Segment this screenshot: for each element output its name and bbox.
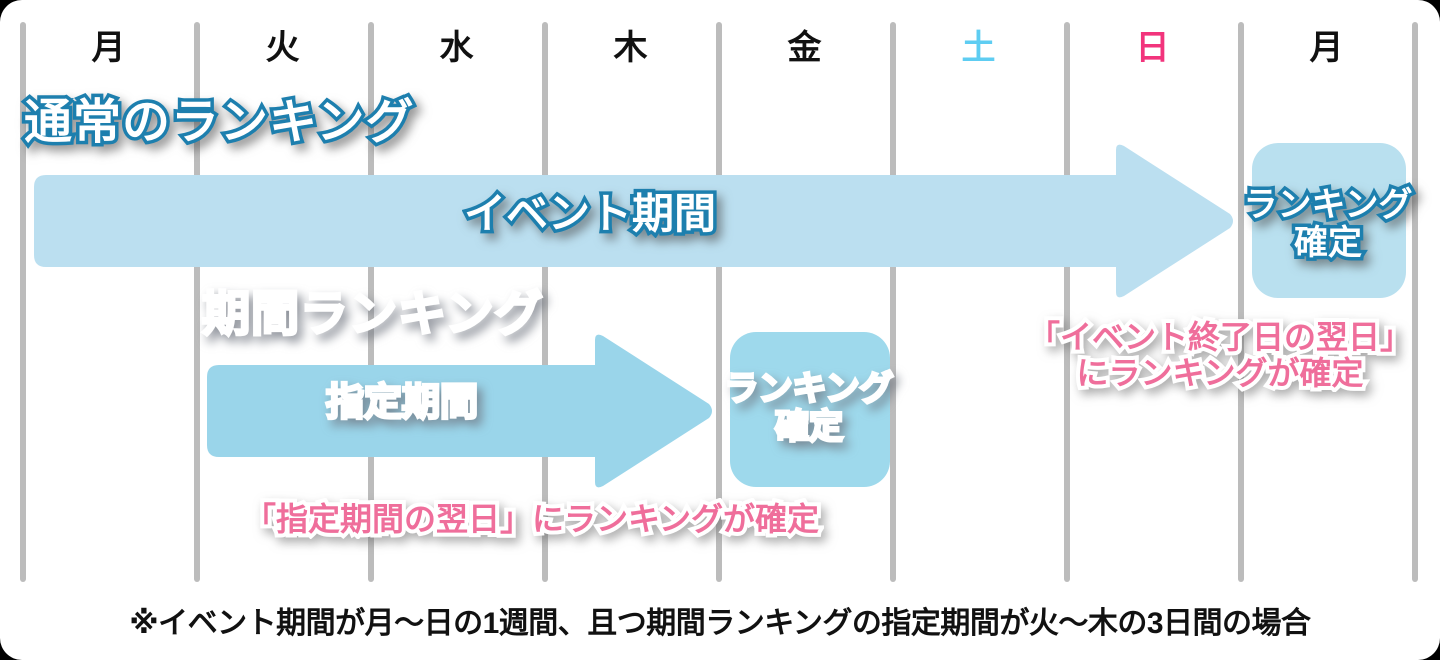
grid-line (1412, 22, 1418, 582)
day-header-thu: 木 (544, 26, 718, 70)
diagram-caption: ※イベント期間が月〜日の1週間、且つ期間ランキングの指定期間が火〜木の3日間の場… (0, 598, 1440, 642)
specified-period-note: 「指定期間の翌日」にランキングが確定 (244, 502, 819, 538)
ranking-result-label-1: ランキング 確定 (1238, 186, 1418, 262)
day-header-mon-2: 月 (1240, 26, 1414, 70)
grid-line (890, 22, 896, 582)
normal-ranking-label: 通常のランキング (24, 96, 415, 150)
day-header-mon-1: 月 (22, 26, 196, 70)
grid-line (1064, 22, 1070, 582)
event-end-note: 「イベント終了日の翌日」 にランキングが確定 (1008, 320, 1432, 392)
day-header-wed: 水 (370, 26, 544, 70)
specified-period-label: 指定期間 (326, 382, 478, 425)
day-header-fri: 金 (718, 26, 892, 70)
period-ranking-label: 期間ランキング (202, 288, 544, 342)
event-period-label: イベント期間 (464, 190, 716, 237)
ranking-result-line2: 確定 (716, 408, 902, 446)
day-header-sat: 土 (892, 26, 1066, 70)
ranking-result-line1: ランキング (1238, 186, 1418, 224)
event-end-note-line2: にランキングが確定 (1008, 356, 1432, 392)
ranking-result-line2: 確定 (1238, 224, 1418, 262)
grid-line (716, 22, 722, 582)
day-header-tue: 火 (196, 26, 370, 70)
ranking-result-line1: ランキング (716, 370, 902, 408)
ranking-result-label-2: ランキング 確定 (716, 370, 902, 446)
event-end-note-line1: 「イベント終了日の翌日」 (1008, 320, 1432, 356)
grid-line (1238, 22, 1244, 582)
day-header-sun: 日 (1066, 26, 1240, 70)
timeline-diagram: 月 火 水 木 金 土 日 月 通常のランキング イベント期間 ランキング 確定… (0, 0, 1440, 660)
